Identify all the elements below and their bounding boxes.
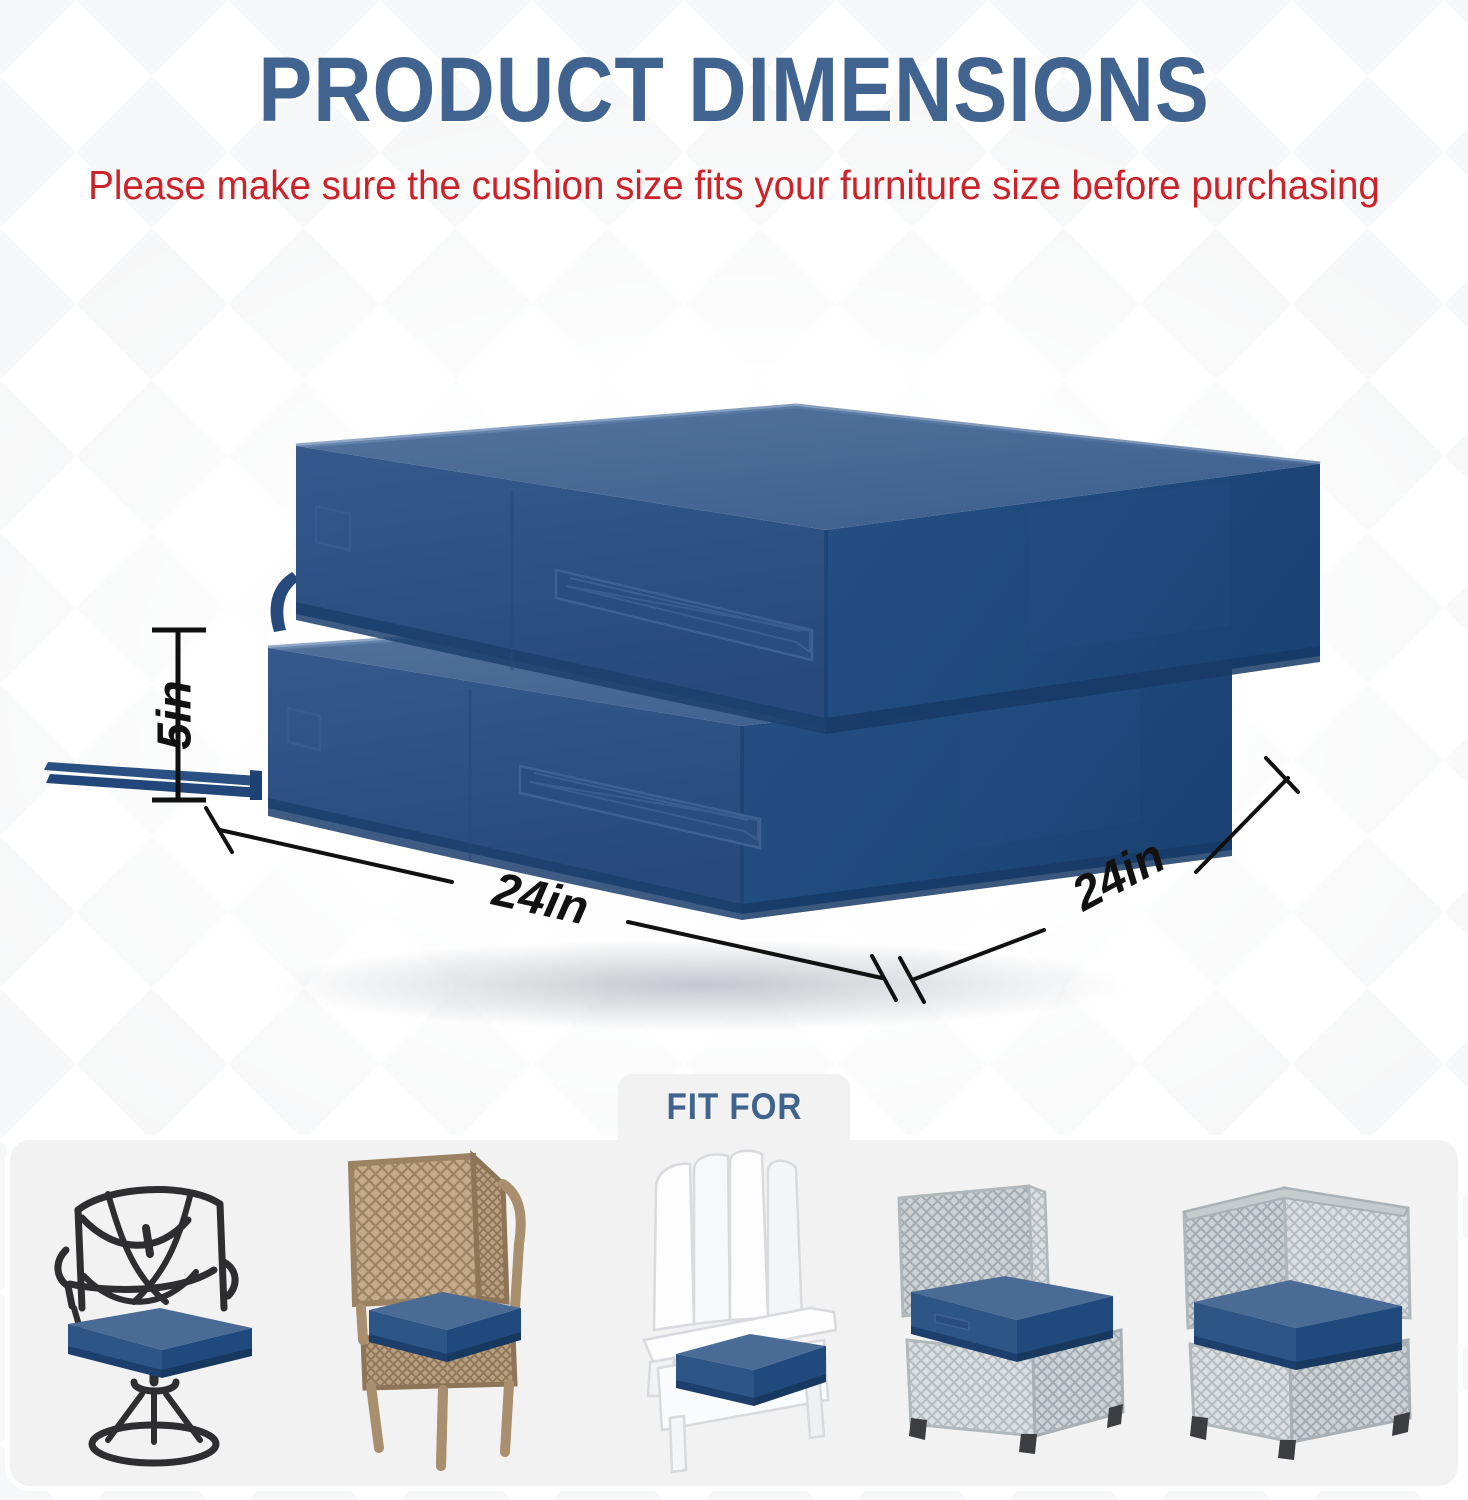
tie-straps (44, 762, 262, 800)
page-subtitle: Please make sure the cushion size fits y… (44, 136, 1424, 212)
fit-for-item-armless-sectional (877, 1168, 1139, 1478)
fit-for-panel (10, 1140, 1458, 1486)
furniture-row (10, 1140, 1458, 1486)
fit-for-item-corner-sectional (1168, 1168, 1430, 1478)
fit-for-item-swivel-metal-chair (38, 1158, 288, 1478)
dimension-label-height: 5in (149, 680, 202, 749)
cushion-on-furniture (68, 1308, 252, 1378)
page-title: PRODUCT DIMENSIONS (88, 0, 1380, 136)
cushion-dimension-diagram: 5in 24in 24in (0, 330, 1468, 1050)
fit-for-tab: FIT FOR (618, 1074, 850, 1140)
header: PRODUCT DIMENSIONS Please make sure the … (0, 0, 1468, 212)
fit-for-item-adirondack-chair (598, 1148, 848, 1478)
tie-loop (271, 572, 300, 632)
cushion-ground-shadow (270, 939, 1130, 1031)
fit-for-label: FIT FOR (666, 1086, 802, 1128)
fit-for-item-wicker-dining-chair (317, 1148, 569, 1478)
